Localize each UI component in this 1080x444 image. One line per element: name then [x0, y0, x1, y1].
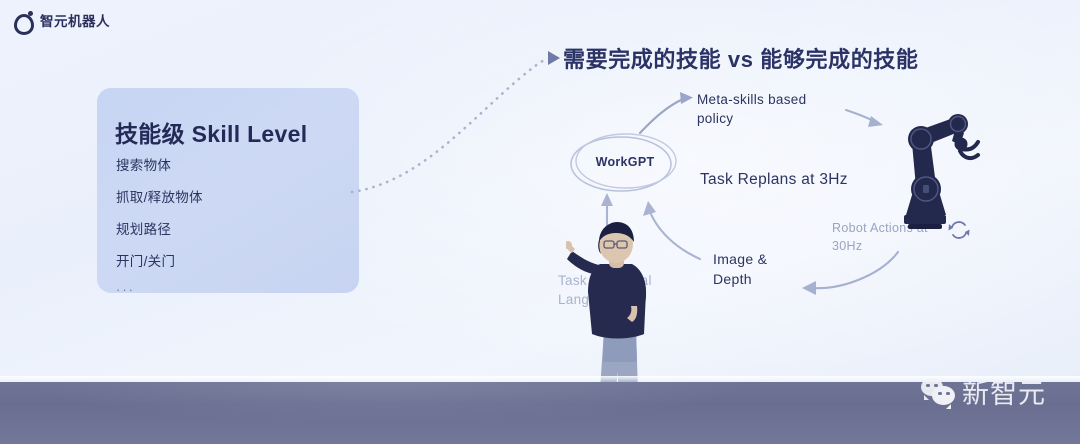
meta-skills-label: Meta-skills based policy [697, 90, 806, 128]
wechat-bubbles-icon [921, 378, 955, 406]
arrow-robot-actions-left [802, 252, 898, 295]
robot-arm-icon [890, 103, 986, 238]
image-depth-label: Image & Depth [713, 250, 767, 290]
arrow-to-robot [846, 110, 883, 127]
slide-photo: 智元机器人 技能级 Skill Level 搜索物体 抓取/释放物体 规划路径 … [0, 0, 1080, 444]
watermark-text: 新智元 [962, 372, 1046, 411]
floor-reflection [0, 382, 1080, 444]
task-replans-label: Task Replans at 3Hz [700, 171, 848, 189]
watermark: 新智元 [921, 372, 1046, 411]
arrow-to-meta-skills [640, 92, 693, 133]
dotted-curved-arrow-icon [352, 51, 560, 192]
workgpt-label: WorkGPT [579, 155, 671, 169]
